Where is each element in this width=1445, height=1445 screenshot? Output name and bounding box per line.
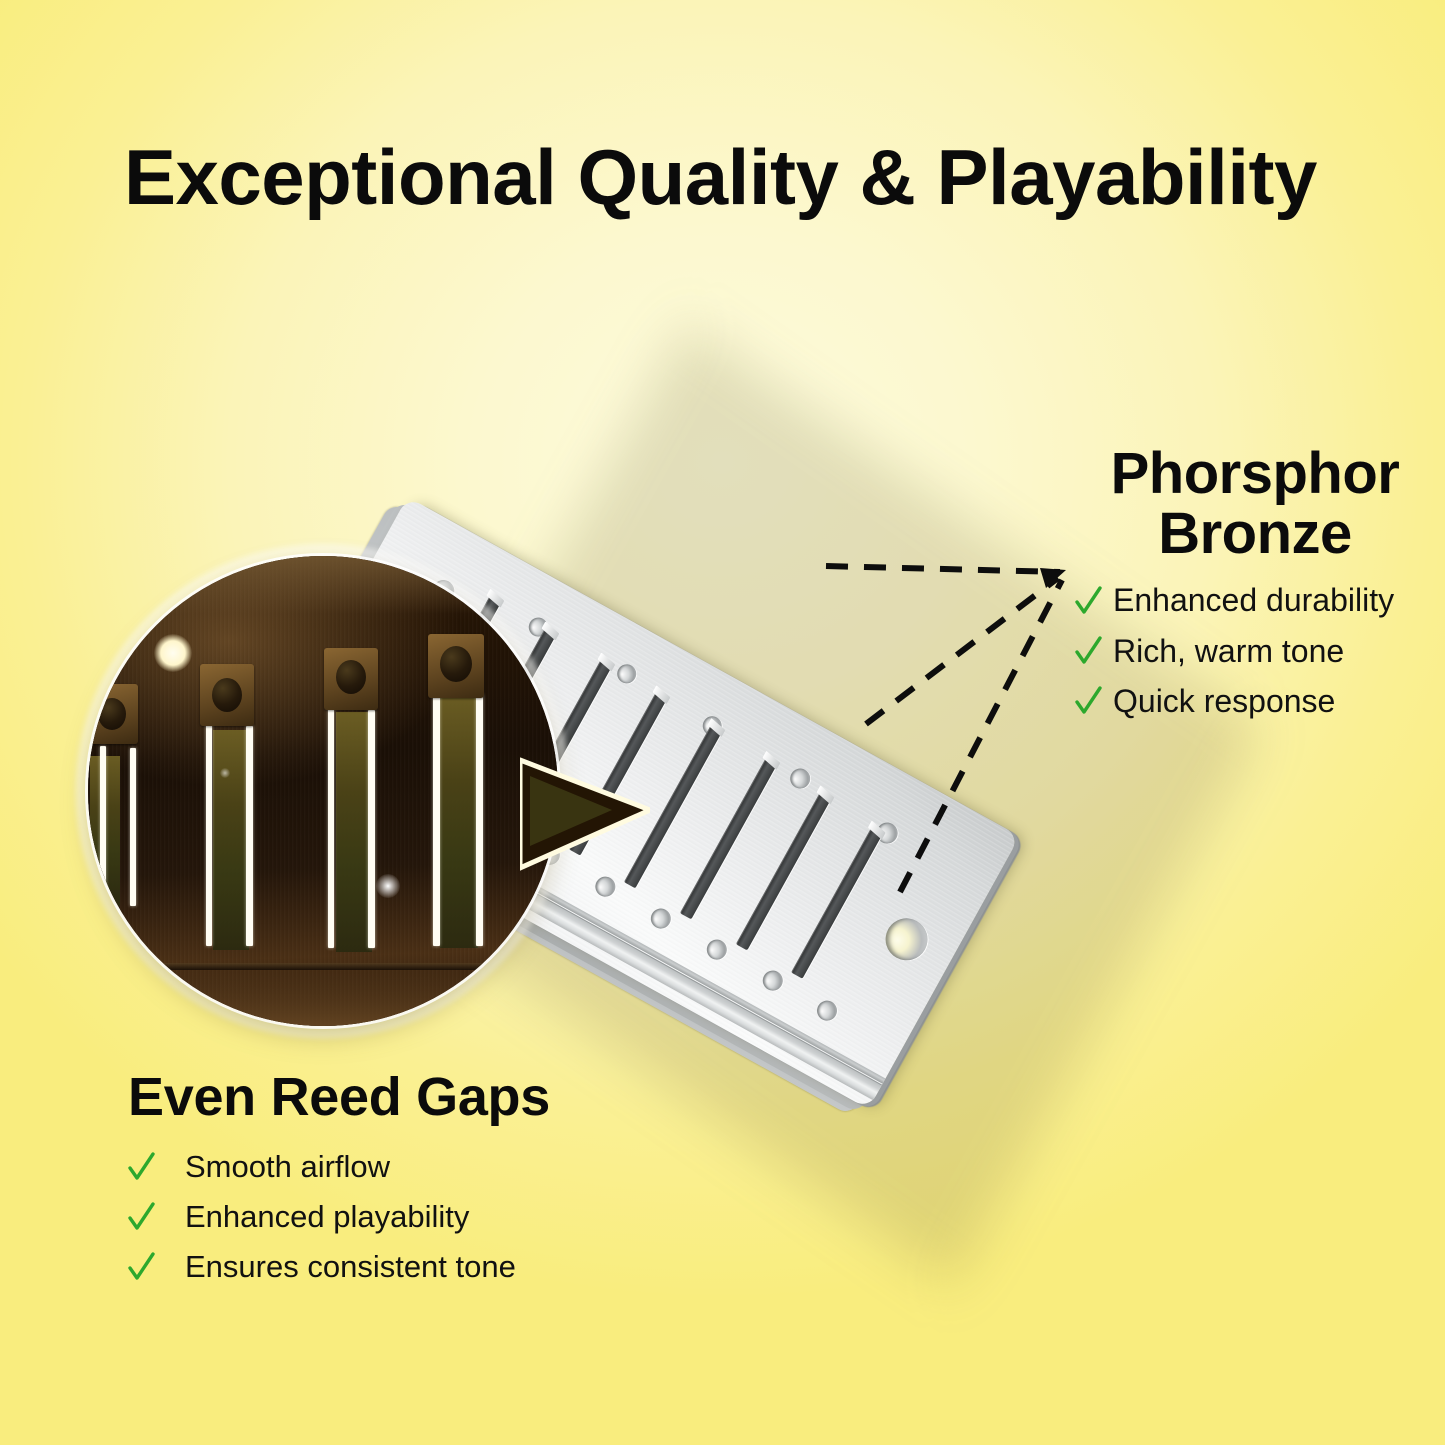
reed-rivet <box>98 698 126 730</box>
plate-rivet-hole <box>592 873 619 900</box>
check-icon <box>128 1252 155 1282</box>
reed-gap <box>130 748 136 906</box>
plate-rivet-hole <box>759 967 786 994</box>
plate-hole-large-bottom <box>878 911 935 968</box>
reed-gap <box>246 726 253 946</box>
infographic-canvas: Exceptional Quality & Playability <box>0 0 1445 1445</box>
magnifier-closeup <box>88 556 558 1026</box>
check-icon <box>1075 586 1102 616</box>
plate-rivet-hole <box>703 936 730 963</box>
feature-label: Ensures consistent tone <box>185 1250 516 1284</box>
even-reed-gaps-feature-list: Smooth airflow Enhanced playability Ensu… <box>128 1150 648 1284</box>
list-item: Enhanced durability <box>1075 583 1435 618</box>
reed-gap <box>100 746 106 906</box>
phosphor-bronze-heading: Phorsphor Bronze <box>1075 444 1435 563</box>
specular-highlight-small <box>376 874 400 898</box>
plate-rivet-hole <box>813 997 840 1024</box>
reed-rivet <box>336 660 366 694</box>
closeup-bottom-rim <box>88 972 558 1026</box>
reed-gap <box>206 724 212 946</box>
list-item: Rich, warm tone <box>1075 634 1435 669</box>
check-icon <box>1075 686 1102 716</box>
list-item: Enhanced playability <box>128 1200 648 1234</box>
closeup-seam-line <box>88 963 558 970</box>
feature-label: Quick response <box>1113 684 1335 719</box>
list-item: Quick response <box>1075 684 1435 719</box>
reed-gap <box>476 694 483 946</box>
specular-highlight-small <box>220 768 230 778</box>
even-reed-gaps-callout: Even Reed Gaps Smooth airflow Enhanced p… <box>128 1070 648 1300</box>
heading-line-1: Phorsphor <box>1075 444 1435 504</box>
reed-tongue <box>440 696 478 948</box>
plate-hole-small <box>787 765 814 792</box>
heading-line-2: Bronze <box>1075 504 1435 564</box>
closeup-top-rim <box>88 556 558 614</box>
plate-rivet-hole <box>647 905 674 932</box>
feature-label: Enhanced durability <box>1113 583 1394 618</box>
plate-hole-small <box>614 661 640 687</box>
reed-rivet <box>212 678 242 712</box>
metal-grain-texture <box>88 556 558 1026</box>
specular-highlight <box>154 634 192 672</box>
check-icon <box>1075 636 1102 666</box>
check-icon <box>128 1202 155 1232</box>
reed-tongue <box>213 730 249 950</box>
reed-tongue <box>336 712 372 952</box>
list-item: Smooth airflow <box>128 1150 648 1184</box>
reed-rivet <box>440 646 472 682</box>
magnifier-lens <box>88 556 558 1026</box>
page-title: Exceptional Quality & Playability <box>124 138 1317 216</box>
phosphor-bronze-feature-list: Enhanced durability Rich, warm tone Quic… <box>1075 583 1435 719</box>
phosphor-bronze-callout: Phorsphor Bronze Enhanced durability Ric… <box>1075 444 1435 734</box>
feature-label: Rich, warm tone <box>1113 634 1344 669</box>
reed-slot <box>791 826 884 979</box>
even-reed-gaps-heading: Even Reed Gaps <box>128 1070 648 1124</box>
reed-gap <box>433 692 440 946</box>
feature-label: Enhanced playability <box>185 1200 469 1234</box>
reed-gap <box>368 710 375 948</box>
check-icon <box>128 1152 155 1182</box>
feature-label: Smooth airflow <box>185 1150 390 1184</box>
list-item: Ensures consistent tone <box>128 1250 648 1284</box>
magnifier-pointer-triangle <box>520 754 650 874</box>
reed-gap <box>328 708 334 948</box>
